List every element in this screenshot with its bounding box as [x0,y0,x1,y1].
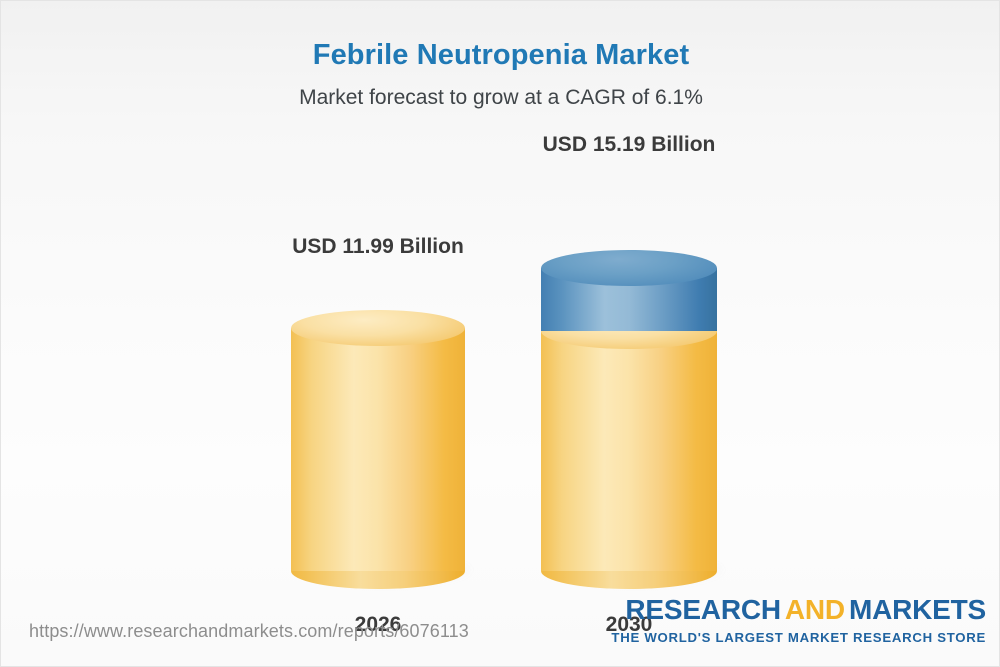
cylinder-2030 [541,268,717,571]
logo-tagline: THE WORLD'S LARGEST MARKET RESEARCH STOR… [611,631,986,644]
bar-value-label-2030: USD 15.19 Billion [469,133,789,157]
bar-group-2026[interactable]: USD 11.99 Billion 2026 [291,291,465,571]
bar-segment-base-2030 [541,331,717,571]
research-and-markets-logo[interactable]: RESEARCHANDMARKETS THE WORLD'S LARGEST M… [611,596,986,644]
chart-plot-area: USD 11.99 Billion 2026 USD 15.19 Billion [1,141,1000,571]
logo-word-research: RESEARCH [625,594,781,625]
cylinder-body [291,328,465,571]
logo-word-markets: MARKETS [849,594,986,625]
source-url[interactable]: https://www.researchandmarkets.com/repor… [29,621,469,642]
cylinder-top-cap [291,310,465,346]
bar-group-2030[interactable]: USD 15.19 Billion 2030 [541,251,717,571]
logo-word-and: AND [781,594,849,625]
chart-subtitle: Market forecast to grow at a CAGR of 6.1… [1,72,1000,110]
cylinder-2026 [291,328,465,571]
cylinder-body [541,331,717,571]
bar-segment-base-2026 [291,328,465,571]
logo-wordmark: RESEARCHANDMARKETS [611,596,986,624]
bar-segment-growth-2030 [541,268,717,331]
chart-title: Febrile Neutropenia Market [1,1,1000,72]
cylinder-top-cap [541,250,717,286]
bar-value-label-2026: USD 11.99 Billion [218,235,538,259]
chart-header: Febrile Neutropenia Market Market foreca… [1,1,1000,110]
infographic-canvas: Febrile Neutropenia Market Market foreca… [0,0,1000,667]
